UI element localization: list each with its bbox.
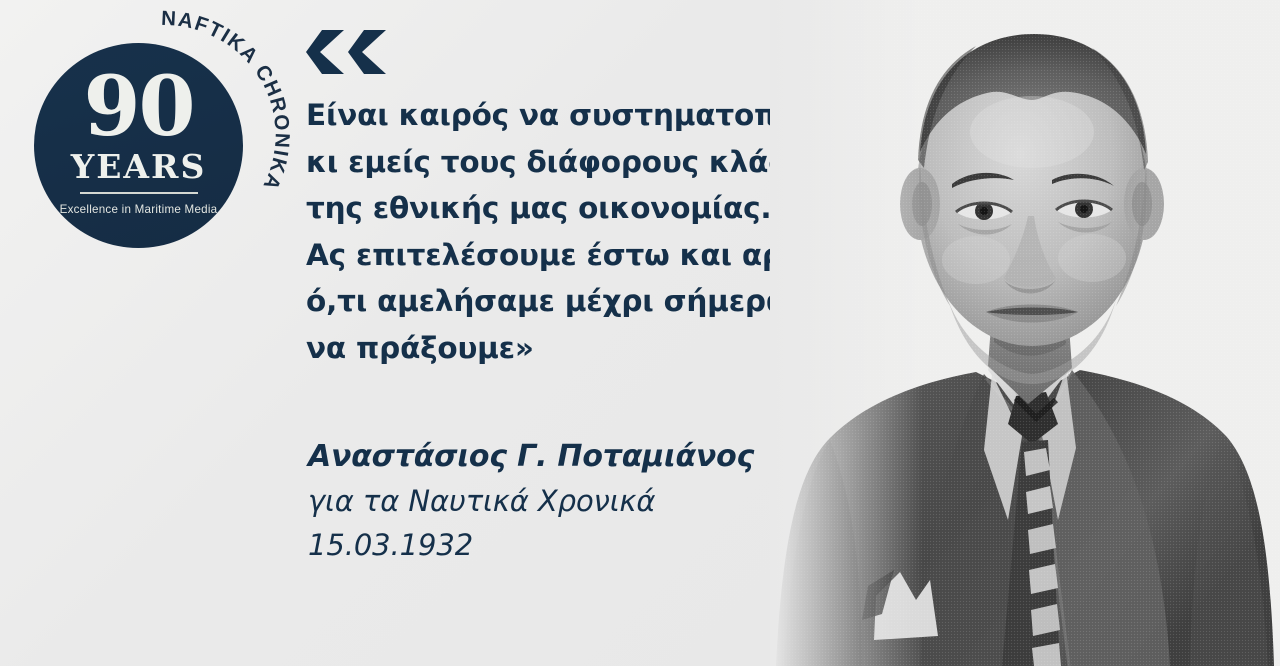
naftika-chronika-90-years-logo[interactable]: NAFTIKA CHRONIKA 90 YEARS Excellence in … (24, 8, 274, 258)
portrait-photo (770, 0, 1280, 666)
logo-number-90: 90 (83, 69, 193, 147)
logo-circle: 90 YEARS Excellence in Maritime Media (34, 43, 243, 248)
portrait-illustration (770, 0, 1280, 666)
quote-card: NAFTIKA CHRONIKA 90 YEARS Excellence in … (0, 0, 1280, 666)
logo-tagline: Excellence in Maritime Media (60, 203, 218, 216)
logo-divider-rule (80, 192, 198, 194)
logo-years-label: YEARS (71, 150, 207, 183)
double-chevron-left-quote-icon (306, 28, 386, 76)
